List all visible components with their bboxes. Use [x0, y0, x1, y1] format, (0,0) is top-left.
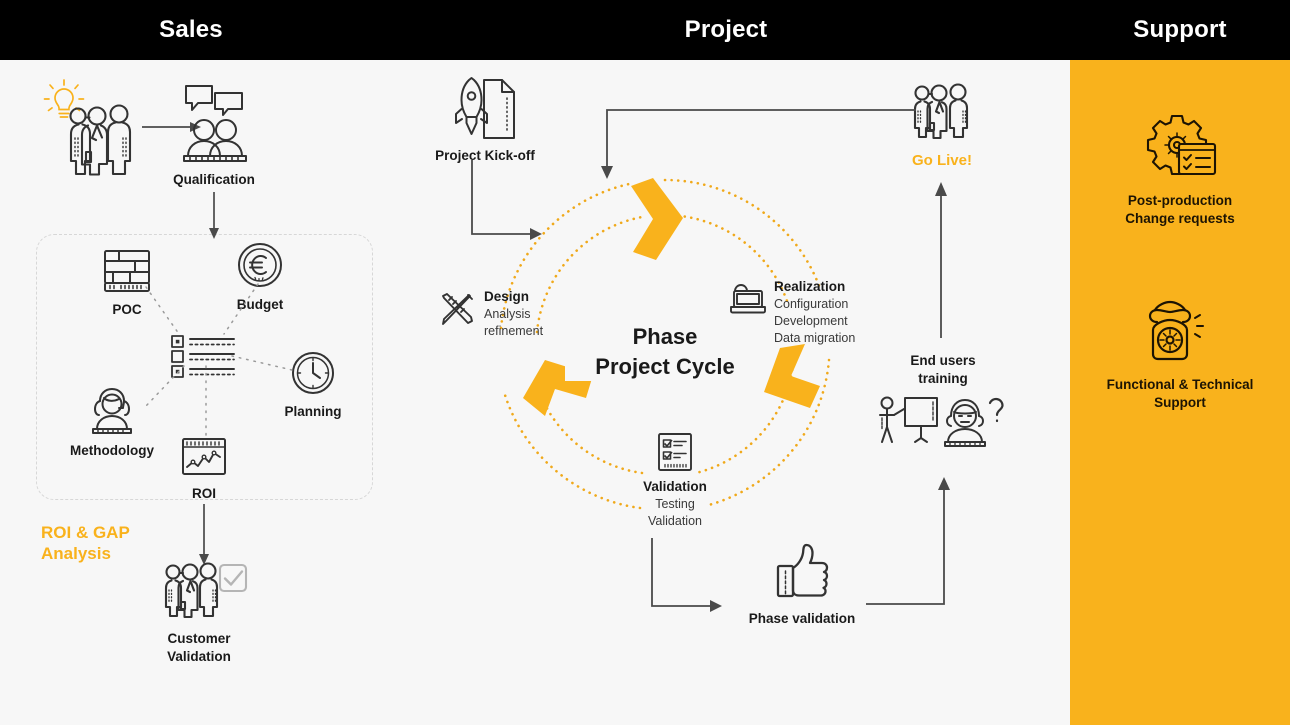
arrow-phase-validation-to-training	[866, 476, 958, 612]
ruler-pencil-icon	[440, 292, 476, 328]
roi-gap-caption: ROI & GAP Analysis	[41, 522, 221, 565]
arrow-qualification-to-roi-box	[206, 192, 222, 240]
end-users-training-line2: training	[872, 370, 1014, 388]
end-users-training-node: End users training	[872, 352, 1014, 446]
support-functional-line1: Functional & Technical	[1070, 376, 1290, 394]
customer-validation-line1: Customer	[140, 630, 258, 648]
design-line-1: refinement	[484, 323, 570, 340]
header-title-sales: Sales	[0, 16, 382, 44]
rocket-document-icon	[454, 78, 516, 140]
laptop-icon	[730, 282, 766, 316]
header-title-project: Project	[382, 16, 1070, 44]
validation-line-0: Testing	[610, 496, 740, 513]
phase-validation-node: Phase validation	[740, 542, 864, 628]
support-block-change-requests: Post-production Change requests	[1070, 112, 1290, 228]
arrow-training-to-go-live	[932, 180, 952, 338]
customer-validation-line2: Validation	[140, 648, 258, 666]
thumbs-up-icon	[771, 542, 833, 604]
support-block-functional-technical: Functional & Technical Support	[1070, 296, 1290, 412]
design-line-0: Analysis	[484, 306, 570, 323]
qualification-node: Qualification	[170, 82, 258, 189]
meeting-discussion-icon	[170, 82, 258, 164]
gear-checklist-icon	[1141, 112, 1219, 182]
arrow-roi-to-customer-validation	[196, 504, 212, 566]
realization-line-2: Data migration	[774, 330, 890, 347]
support-change-requests-line1: Post-production	[1070, 192, 1290, 210]
roi-box-connectors	[36, 234, 373, 500]
support-functional-line2: Support	[1070, 394, 1290, 412]
phase-validation-label: Phase validation	[740, 610, 864, 628]
realization-line-1: Development	[774, 313, 890, 330]
cycle-step-validation: Validation Testing Validation	[610, 432, 740, 530]
realization-line-0: Configuration	[774, 296, 890, 313]
qualification-label: Qualification	[170, 171, 258, 189]
end-users-training-line1: End users	[872, 352, 1014, 370]
cycle-step-design: Design Analysis refinement	[440, 288, 570, 340]
cycle-step-realization: Realization Configuration Development Da…	[730, 278, 890, 348]
arrow-go-live-to-cycle	[598, 108, 918, 184]
team-with-lightbulb-icon	[34, 72, 154, 172]
team-approved-icon	[149, 562, 249, 624]
telephone-icon	[1139, 296, 1221, 366]
team-with-lightbulb-node	[34, 72, 154, 172]
checklist-doc-icon	[655, 432, 695, 472]
validation-title: Validation	[610, 478, 740, 496]
design-title: Design	[484, 288, 570, 306]
arrow-validation-to-phase-validation	[650, 538, 728, 616]
trainer-board-icon	[875, 394, 1011, 446]
confused-user-icon	[945, 400, 985, 446]
header-title-support: Support	[1133, 16, 1226, 44]
cycle-center-line2-text: Project Cycle	[565, 352, 765, 382]
support-change-requests-line2: Change requests	[1070, 210, 1290, 228]
realization-title: Realization	[774, 278, 890, 296]
header-bar-support: Support	[1070, 0, 1290, 60]
project-kickoff-node: Project Kick-off	[428, 78, 542, 165]
diagram-canvas: Sales Project Support	[0, 0, 1290, 725]
customer-validation-node: Customer Validation	[140, 562, 258, 666]
validation-line-1: Validation	[610, 513, 740, 530]
header-bar-left: Sales Project	[0, 0, 1070, 60]
roi-gap-caption-line1: ROI & GAP	[41, 522, 221, 543]
